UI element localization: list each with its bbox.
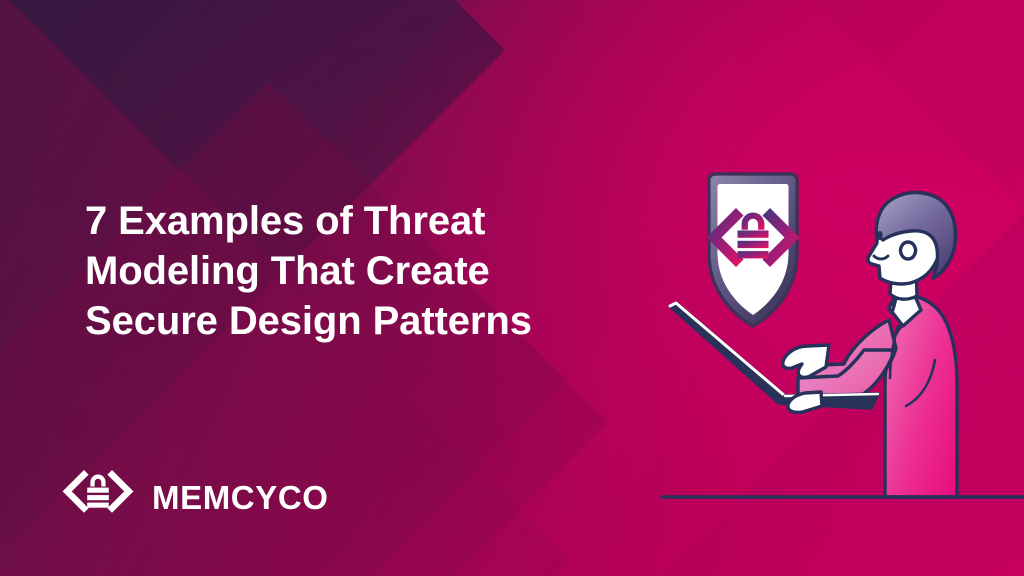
hero-illustration bbox=[640, 150, 1024, 530]
page-title: 7 Examples of Threat Modeling That Creat… bbox=[85, 196, 605, 346]
promo-banner: 7 Examples of Threat Modeling That Creat… bbox=[0, 0, 1024, 576]
brand-logo-lockup[interactable]: MEMCYCO bbox=[60, 464, 329, 530]
memcyco-mark bbox=[60, 464, 136, 530]
memcyco-wordmark: MEMCYCO bbox=[152, 481, 329, 514]
